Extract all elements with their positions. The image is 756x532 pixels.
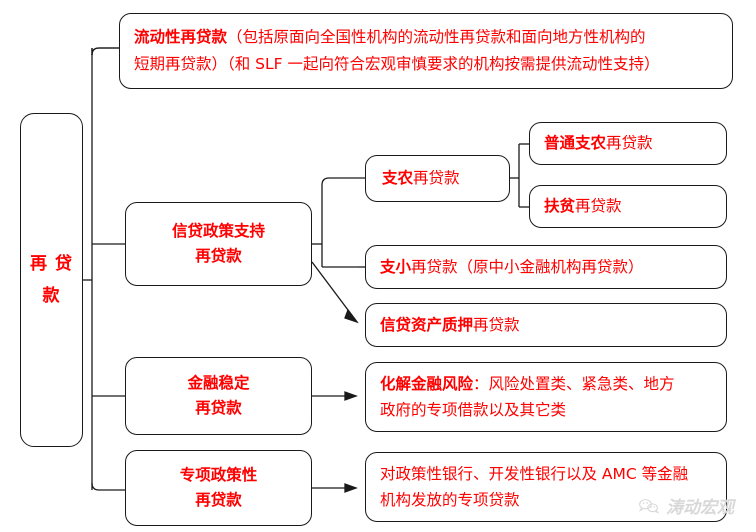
node-poverty-alleviation-rest: 再贷款 [575, 197, 622, 215]
node-poverty-alleviation[interactable]: 扶贫再贷款 [529, 185, 727, 228]
node-risk-resolution-bold: 化解金融风险 [380, 375, 473, 393]
node-policy-banks-line1: 对政策性银行、开发性银行以及 AMC 等金融 [380, 465, 688, 483]
node-agriculture-normal-text: 普通支农再贷款 [530, 132, 726, 154]
node-agriculture-relending[interactable]: 支农再贷款 [365, 155, 510, 202]
node-risk-resolution-rest1: ：风险处置类、紧急类、地方 [473, 375, 675, 393]
node-liquidity-line2: 短期再贷款）（和 SLF 一起向符合宏观审慎要求的机构按需提供流动性支持） [134, 55, 660, 73]
node-credit-asset-pledge[interactable]: 信贷资产质押再贷款 [365, 303, 727, 347]
node-agriculture-rest: 再贷款 [413, 169, 460, 187]
node-liquidity-rest1: （包括原面向全国性机构的流动性再贷款和面向地方性机构的 [227, 28, 646, 46]
node-liquidity-relending[interactable]: 流动性再贷款（包括原面向全国性机构的流动性再贷款和面向地方性机构的 短期再贷款）… [119, 13, 733, 89]
node-agriculture-text: 支农再贷款 [366, 167, 509, 189]
node-risk-resolution-line2: 政府的专项借款以及其它类 [380, 401, 566, 419]
node-small-business-relending[interactable]: 支小再贷款（原中小金融机构再贷款） [365, 245, 727, 289]
node-special-policy[interactable]: 专项政策性 再贷款 [125, 450, 312, 526]
node-policy-banks-line2: 机构发放的专项贷款 [380, 491, 520, 509]
node-poverty-alleviation-bold: 扶贫 [544, 197, 575, 215]
node-small-business-bold: 支小 [380, 258, 411, 276]
node-risk-resolution[interactable]: 化解金融风险：风险处置类、紧急类、地方 政府的专项借款以及其它类 [365, 362, 727, 432]
node-credit-policy-line2: 再贷款 [195, 247, 242, 265]
node-credit-asset-pledge-rest: 再贷款 [473, 316, 520, 334]
node-special-policy-text: 专项政策性 再贷款 [126, 463, 311, 513]
node-financial-stability-line1: 金融稳定 [187, 374, 249, 392]
node-root-label: 再 贷 款 [21, 248, 82, 313]
node-agriculture-normal[interactable]: 普通支农再贷款 [529, 122, 727, 165]
node-special-policy-line1: 专项政策性 [180, 466, 258, 484]
node-financial-stability[interactable]: 金融稳定 再贷款 [125, 357, 312, 435]
node-liquidity-text: 流动性再贷款（包括原面向全国性机构的流动性再贷款和面向地方性机构的 短期再贷款）… [120, 24, 732, 78]
wechat-icon [638, 498, 660, 514]
watermark: 涛动宏观 [638, 493, 734, 518]
node-financial-stability-line2: 再贷款 [195, 399, 242, 417]
node-credit-policy-support[interactable]: 信贷政策支持 再贷款 [125, 202, 312, 286]
node-agriculture-normal-rest: 再贷款 [606, 134, 653, 152]
node-credit-asset-pledge-bold: 信贷资产质押 [380, 316, 473, 334]
node-agriculture-bold: 支农 [382, 169, 413, 187]
node-root-relending[interactable]: 再 贷 款 [20, 113, 83, 447]
node-financial-stability-text: 金融稳定 再贷款 [126, 371, 311, 421]
node-credit-policy-text: 信贷政策支持 再贷款 [126, 219, 311, 269]
node-poverty-alleviation-text: 扶贫再贷款 [530, 195, 726, 217]
node-risk-resolution-text: 化解金融风险：风险处置类、紧急类、地方 政府的专项借款以及其它类 [366, 371, 726, 424]
node-credit-policy-line1: 信贷政策支持 [172, 222, 265, 240]
node-small-business-text: 支小再贷款（原中小金融机构再贷款） [366, 256, 726, 278]
node-liquidity-bold: 流动性再贷款 [134, 28, 227, 46]
node-credit-asset-pledge-text: 信贷资产质押再贷款 [366, 314, 726, 336]
diagram-canvas: 再 贷 款 流动性再贷款（包括原面向全国性机构的流动性再贷款和面向地方性机构的 … [0, 0, 756, 532]
watermark-label: 涛动宏观 [666, 493, 734, 518]
node-agriculture-normal-bold: 普通支农 [544, 134, 606, 152]
node-special-policy-line2: 再贷款 [195, 491, 242, 509]
node-small-business-rest: 再贷款（原中小金融机构再贷款） [411, 258, 644, 276]
